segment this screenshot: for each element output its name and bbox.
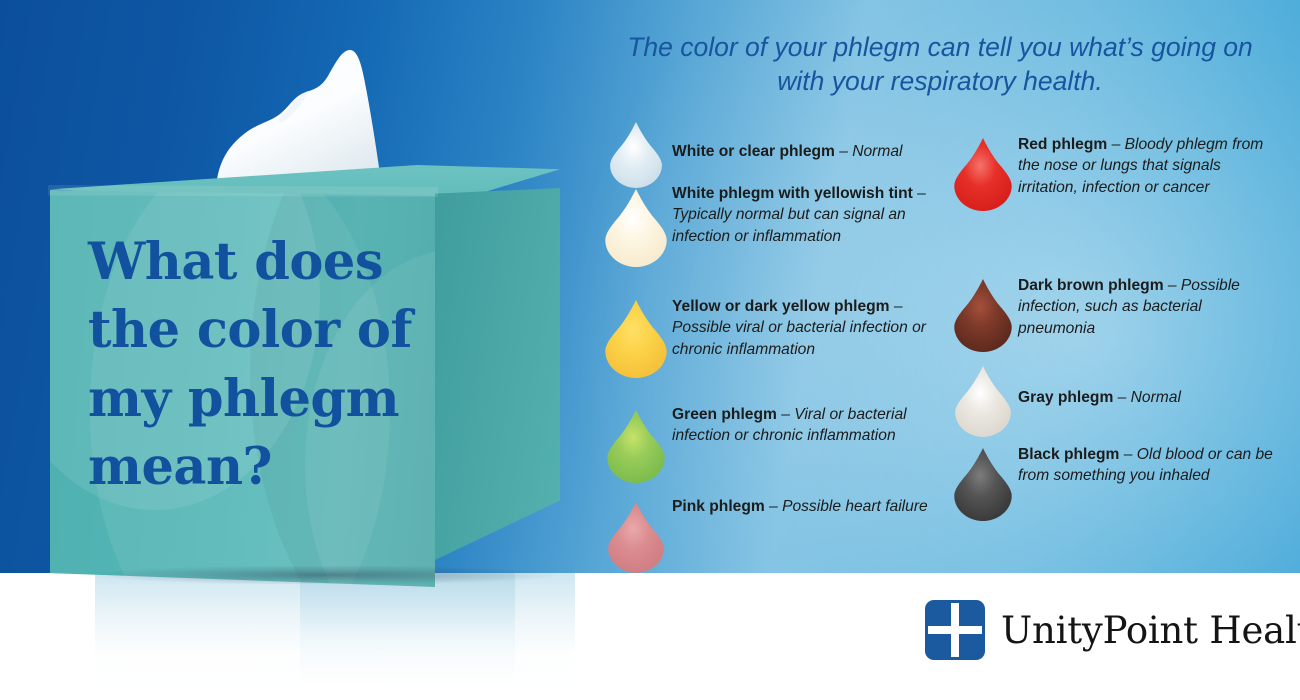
list-item: Yellow or dark yellow phlegm – Possible …: [600, 296, 950, 378]
list-item-text: Pink phlegm – Possible heart failure: [672, 496, 950, 517]
brand-name: UnityPoint Health: [1001, 609, 1300, 652]
tissue-box-ground-shadow: [90, 566, 560, 584]
list-item: Black phlegm – Old blood or can be from …: [948, 444, 1278, 521]
tissue-box-side: [435, 188, 560, 560]
list-item-text: Yellow or dark yellow phlegm – Possible …: [672, 296, 950, 360]
phlegm-drop-dark-brown-icon: [948, 275, 1018, 352]
list-item-text: Red phlegm – Bloody phlegm from the nose…: [1018, 134, 1278, 198]
list-item-description: Possible viral or bacterial infection or…: [672, 319, 926, 357]
phlegm-drop-black-icon: [948, 444, 1018, 521]
floor-reflection-secondary: [300, 573, 515, 688]
list-item-separator: –: [1113, 389, 1130, 406]
list-item: Green phlegm – Viral or bacterial infect…: [600, 404, 950, 483]
list-item-title: Yellow or dark yellow phlegm: [672, 298, 890, 315]
list-item: Pink phlegm – Possible heart failure: [600, 496, 950, 573]
list-item-text: Black phlegm – Old blood or can be from …: [1018, 444, 1278, 487]
phlegm-drop-green-icon: [600, 404, 672, 483]
list-item-title: Black phlegm: [1018, 446, 1119, 463]
list-item-title: Red phlegm: [1018, 136, 1107, 153]
brand-logo[interactable]: UnityPoint Health: [925, 600, 1300, 660]
infographic-canvas: What does the color of my phlegm mean? T…: [0, 0, 1300, 700]
list-item-separator: –: [835, 143, 852, 160]
subheadline: The color of your phlegm can tell you wh…: [600, 30, 1280, 99]
list-item: White phlegm with yellowish tint – Typic…: [600, 183, 950, 267]
phlegm-drop-white-clear-icon: [600, 122, 672, 188]
list-item-title: Green phlegm: [672, 406, 777, 423]
list-item-title: White or clear phlegm: [672, 143, 835, 160]
page-title: What does the color of my phlegm mean?: [88, 228, 448, 501]
list-item: Gray phlegm – Normal: [948, 364, 1278, 437]
list-item-text: Dark brown phlegm – Possible infection, …: [1018, 275, 1278, 339]
list-item-separator: –: [765, 498, 782, 515]
list-item-separator: –: [1164, 277, 1181, 294]
list-item-separator: –: [777, 406, 794, 423]
list-item-text: White or clear phlegm – Normal: [672, 122, 950, 162]
phlegm-drop-pink-icon: [600, 496, 672, 573]
cross-icon: [925, 600, 985, 660]
phlegm-drop-gray-icon: [948, 364, 1018, 437]
list-item: White or clear phlegm – Normal: [600, 122, 950, 188]
list-item-separator: –: [890, 298, 903, 315]
list-item-description: Typically normal but can signal an infec…: [672, 206, 906, 244]
list-item-description: Possible heart failure: [782, 498, 928, 515]
list-item-text: Green phlegm – Viral or bacterial infect…: [672, 404, 950, 447]
list-item-separator: –: [1107, 136, 1124, 153]
list-item-description: Normal: [1131, 389, 1181, 406]
phlegm-drop-white-yellowish-icon: [600, 183, 672, 267]
list-item-title: White phlegm with yellowish tint: [672, 185, 913, 202]
phlegm-drop-red-icon: [948, 134, 1018, 211]
list-item-title: Dark brown phlegm: [1018, 277, 1164, 294]
list-item-title: Gray phlegm: [1018, 389, 1113, 406]
list-item: Red phlegm – Bloody phlegm from the nose…: [948, 134, 1278, 211]
list-item-text: Gray phlegm – Normal: [1018, 364, 1278, 408]
phlegm-drop-yellow-icon: [600, 296, 672, 378]
list-item-title: Pink phlegm: [672, 498, 765, 515]
list-item-separator: –: [913, 185, 926, 202]
list-item-separator: –: [1119, 446, 1136, 463]
list-item-text: White phlegm with yellowish tint – Typic…: [672, 183, 950, 247]
list-item: Dark brown phlegm – Possible infection, …: [948, 275, 1278, 352]
list-item-description: Normal: [852, 143, 902, 160]
